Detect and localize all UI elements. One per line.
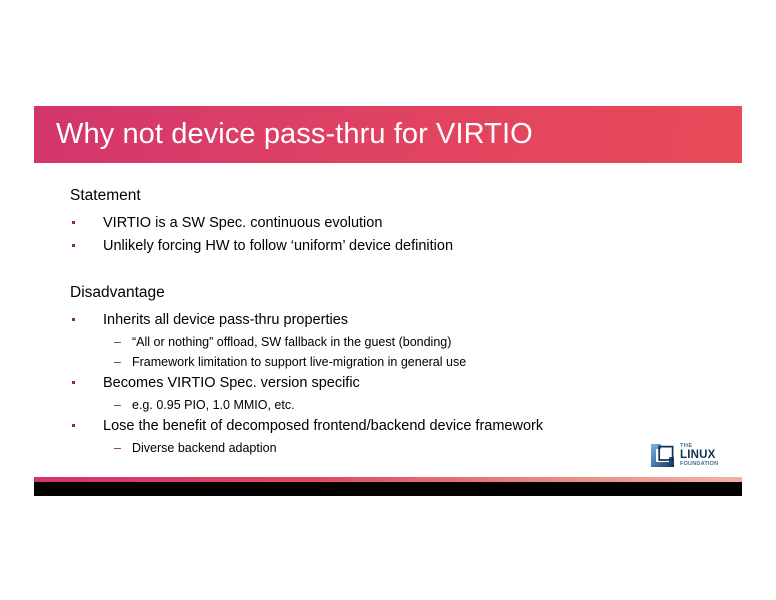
bullet-text: Unlikely forcing HW to follow ‘uniform’ … <box>103 238 453 254</box>
sub-bullet-item: – Diverse backend adaption <box>70 438 710 458</box>
slide-canvas: Why not device pass-thru for VIRTIO Stat… <box>0 0 776 600</box>
sub-bullet-text: “All or nothing” offload, SW fallback in… <box>132 335 451 349</box>
sub-bullet-text: Diverse backend adaption <box>132 441 277 455</box>
bullet-text: Inherits all device pass-thru properties <box>103 312 348 328</box>
section-disadvantage: Disadvantage Inherits all device pass-th… <box>70 283 710 458</box>
bullet-marker-icon <box>72 424 75 427</box>
bullet-item: Lose the benefit of decomposed frontend/… <box>70 415 710 438</box>
dash-marker-icon: – <box>114 332 121 352</box>
section-statement: Statement VIRTIO is a SW Spec. continuou… <box>70 186 710 258</box>
bullet-text: VIRTIO is a SW Spec. continuous evolutio… <box>103 215 382 231</box>
slide-title-banner: Why not device pass-thru for VIRTIO <box>34 106 742 163</box>
bullet-marker-icon <box>72 244 75 247</box>
bullet-text: Lose the benefit of decomposed frontend/… <box>103 418 543 434</box>
bullet-item: Unlikely forcing HW to follow ‘uniform’ … <box>70 235 710 258</box>
bullet-item: Inherits all device pass-thru properties <box>70 309 710 332</box>
linux-foundation-mark-icon <box>650 443 675 468</box>
sub-bullet-item: – Framework limitation to support live-m… <box>70 352 710 372</box>
section-spacer <box>70 258 710 283</box>
footer-bar <box>34 482 742 496</box>
bullet-item: VIRTIO is a SW Spec. continuous evolutio… <box>70 212 710 235</box>
dash-marker-icon: – <box>114 438 121 458</box>
sub-bullet-text: e.g. 0.95 PIO, 1.0 MMIO, etc. <box>132 398 295 412</box>
bullet-marker-icon <box>72 318 75 321</box>
sub-bullet-item: – e.g. 0.95 PIO, 1.0 MMIO, etc. <box>70 395 710 415</box>
bullet-marker-icon <box>72 381 75 384</box>
bullet-marker-icon <box>72 221 75 224</box>
linux-foundation-logo: THE LINUX FOUNDATION <box>650 441 724 470</box>
page-title: Why not device pass-thru for VIRTIO <box>56 117 533 150</box>
slide-body: Statement VIRTIO is a SW Spec. continuou… <box>70 186 710 458</box>
sub-bullet-item: – “All or nothing” offload, SW fallback … <box>70 332 710 352</box>
logo-line-foundation: FOUNDATION <box>680 462 718 467</box>
linux-foundation-wordmark: THE LINUX FOUNDATION <box>680 444 718 467</box>
dash-marker-icon: – <box>114 352 121 372</box>
logo-line-linux: LINUX <box>680 450 718 461</box>
section-heading: Statement <box>70 186 710 206</box>
dash-marker-icon: – <box>114 395 121 415</box>
bullet-item: Becomes VIRTIO Spec. version specific <box>70 372 710 395</box>
bullet-text: Becomes VIRTIO Spec. version specific <box>103 375 360 391</box>
section-heading: Disadvantage <box>70 283 710 303</box>
sub-bullet-text: Framework limitation to support live-mig… <box>132 355 466 369</box>
